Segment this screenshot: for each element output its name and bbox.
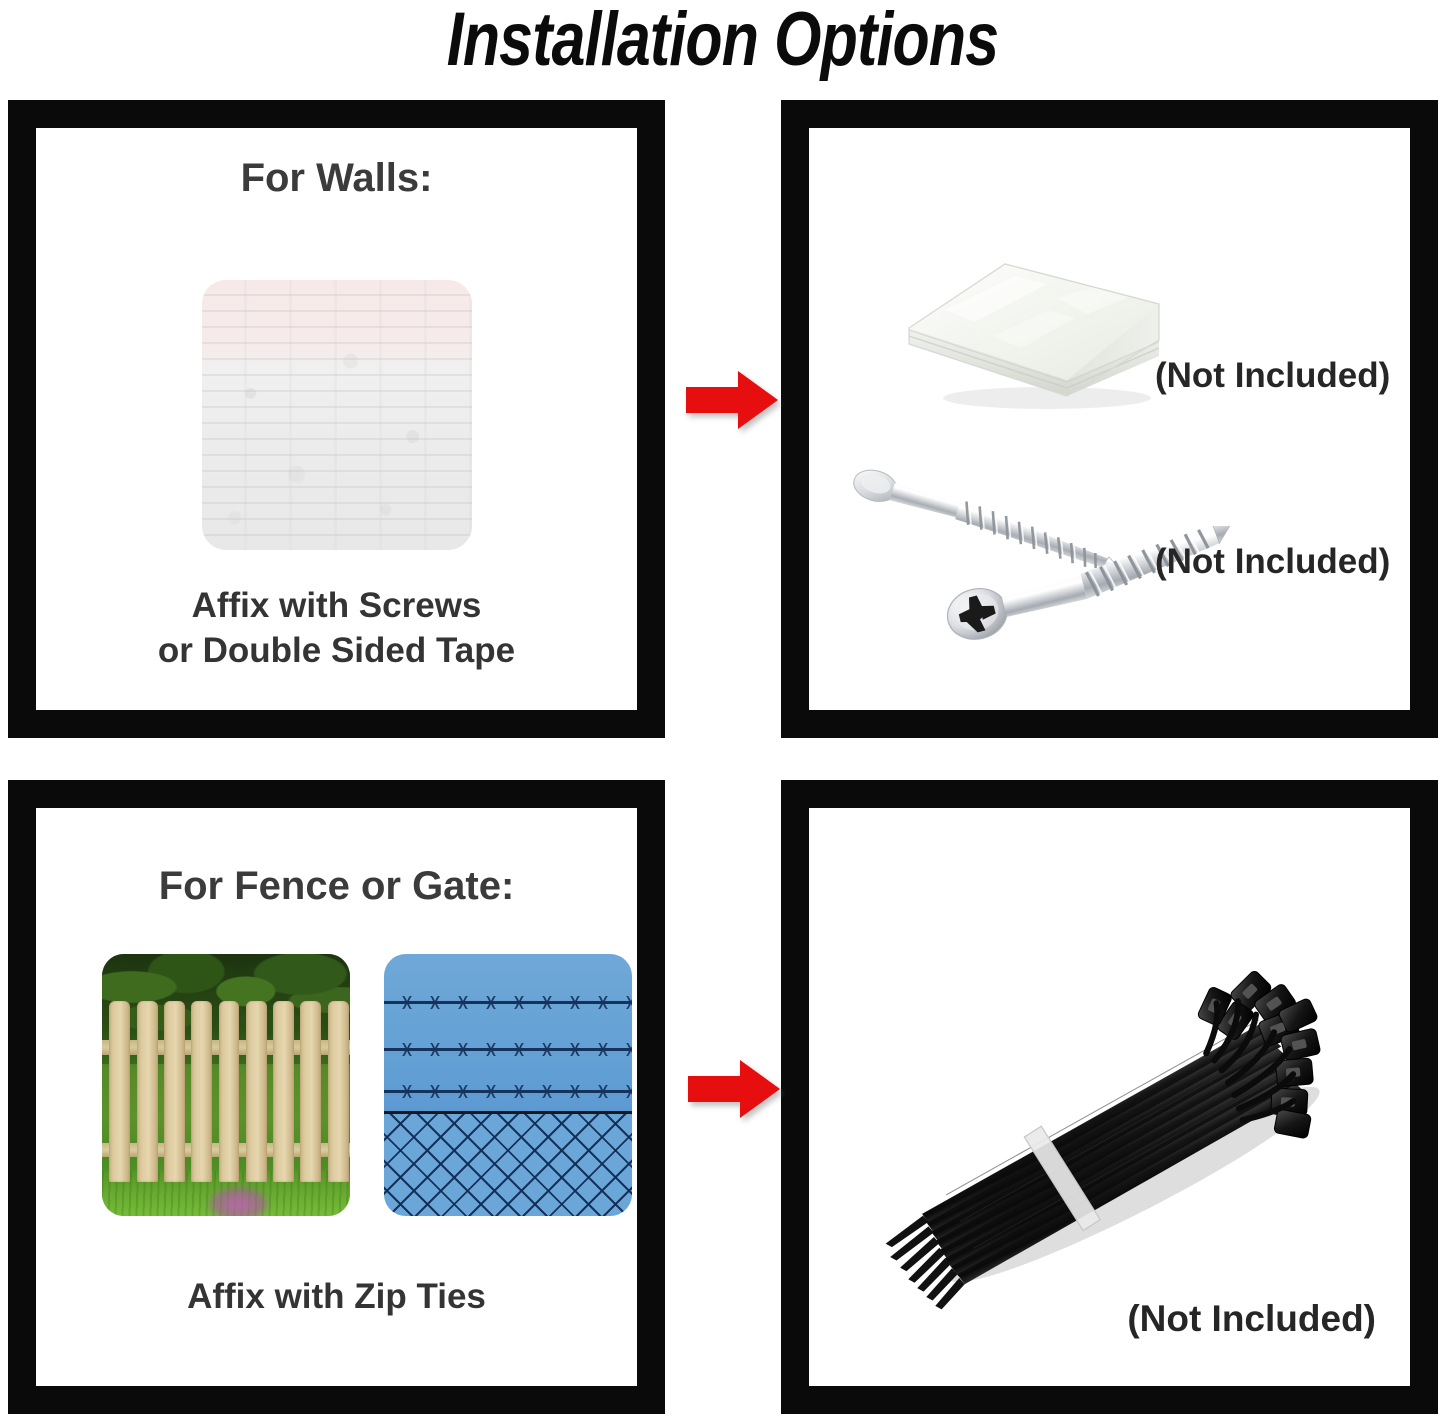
- for-walls-caption: Affix with Screws or Double Sided Tape: [36, 584, 637, 674]
- panel-for-fence-or-gate-inner: For Fence or Gate:: [36, 808, 637, 1386]
- barbed-wire-strand: [384, 1001, 632, 1004]
- barbed-wire-strand: [384, 1090, 632, 1093]
- for-fence-caption: Affix with Zip Ties: [36, 1275, 637, 1320]
- panel-wall-hardware: (Not Included): [781, 100, 1438, 738]
- fence-picket: [164, 1001, 185, 1182]
- panel-wall-hardware-inner: (Not Included): [809, 128, 1410, 710]
- caption-line-2: or Double Sided Tape: [36, 629, 637, 674]
- fence-picket: [191, 1001, 212, 1182]
- wooden-picket-fence-photo: [102, 954, 350, 1216]
- for-fence-or-gate-heading: For Fence or Gate:: [36, 864, 637, 909]
- double-sided-tape-stack-icon: [897, 248, 1165, 416]
- zip-ties-not-included-label: (Not Included): [1127, 1298, 1376, 1340]
- fence-picket: [137, 1001, 158, 1182]
- tape-not-included-label: (Not Included): [1155, 356, 1390, 396]
- black-zip-tie-bundle-icon: [853, 938, 1373, 1358]
- page-title: Installation Options: [145, 0, 1301, 83]
- for-walls-heading: For Walls:: [36, 156, 637, 201]
- caption-line-1: Affix with Zip Ties: [36, 1275, 637, 1320]
- panel-for-walls-inner: For Walls: Affix with Screws or Double S…: [36, 128, 637, 710]
- chain-link-mesh: [384, 1114, 632, 1216]
- brick-texture-noise: [202, 280, 472, 550]
- red-right-arrow-top: [686, 369, 778, 431]
- caption-line-1: Affix with Screws: [36, 584, 637, 629]
- fence-picket: [219, 1001, 240, 1182]
- white-brick-wall-swatch: [202, 280, 472, 550]
- panel-for-walls: For Walls: Affix with Screws or Double S…: [8, 100, 665, 738]
- fence-picket: [300, 1001, 321, 1182]
- purple-ground-patch: [209, 1187, 269, 1216]
- panel-zip-ties-inner: (Not Included): [809, 808, 1410, 1386]
- fence-picket: [109, 1001, 130, 1182]
- panel-zip-ties: (Not Included): [781, 780, 1438, 1414]
- panel-for-fence-or-gate: For Fence or Gate:: [8, 780, 665, 1414]
- barbed-wire-strand: [384, 1048, 632, 1051]
- fence-picket: [246, 1001, 267, 1182]
- red-right-arrow-bottom: [688, 1058, 780, 1120]
- fence-picket: [328, 1001, 349, 1182]
- screws-not-included-label: (Not Included): [1155, 542, 1390, 582]
- installation-options-infographic: Installation Options For Walls: Affix wi…: [0, 0, 1445, 1422]
- fence-picket: [273, 1001, 294, 1182]
- chain-link-barbed-wire-fence-photo: [384, 954, 632, 1216]
